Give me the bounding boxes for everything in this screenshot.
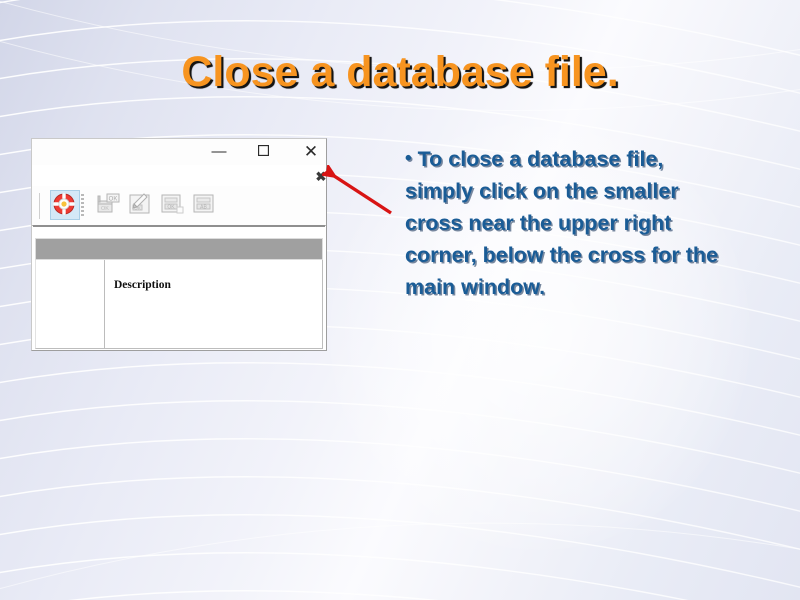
toolbar-bottom-divider <box>33 225 325 227</box>
lifebuoy-icon <box>51 191 77 217</box>
svg-text:OK: OK <box>101 206 109 212</box>
toolbar-item-report: AB <box>190 190 220 220</box>
form-edit-icon: OK <box>126 190 154 218</box>
query-icon: OK <box>158 190 186 218</box>
svg-text:OK: OK <box>167 204 175 210</box>
window-close-button[interactable]: ✕ <box>294 139 328 165</box>
window-toolbar: OK OK OK OK <box>32 186 326 226</box>
red-annotation-arrow <box>322 165 402 225</box>
window-titlebar: — ✕ <box>32 139 326 165</box>
description-column-header: Description <box>114 279 171 291</box>
slide-title: Close a database file. <box>0 48 800 97</box>
bullet-text: To close a database file, simply click o… <box>405 147 718 299</box>
svg-text:AB: AB <box>200 204 207 210</box>
document-body-pane: Description <box>35 260 323 349</box>
application-window-screenshot: — ✕ ✖ <box>31 138 327 351</box>
presentation-slide: Close a database file. • To close a data… <box>0 0 800 600</box>
bullet-marker: • <box>405 148 412 169</box>
document-header-band <box>35 238 323 260</box>
maximize-icon <box>258 145 269 156</box>
toolbar-item-form-edit: OK <box>126 190 156 220</box>
svg-text:OK: OK <box>109 197 118 203</box>
toolbar-item-lifebuoy[interactable] <box>50 190 80 220</box>
report-icon: AB <box>190 190 218 218</box>
window-maximize-button[interactable] <box>246 139 280 165</box>
document-close-button[interactable]: ✖ <box>313 169 329 185</box>
window-minimize-button[interactable]: — <box>202 139 236 165</box>
toolbar-grip[interactable] <box>39 193 42 219</box>
pane-vertical-divider <box>104 260 105 349</box>
toolbar-separator-dots <box>81 194 85 216</box>
toolbar-item-table: OK OK <box>94 190 124 220</box>
toolbar-item-query: OK <box>158 190 188 220</box>
slide-body-bullet: • To close a database file, simply click… <box>405 143 735 303</box>
table-icon: OK OK <box>94 190 122 218</box>
